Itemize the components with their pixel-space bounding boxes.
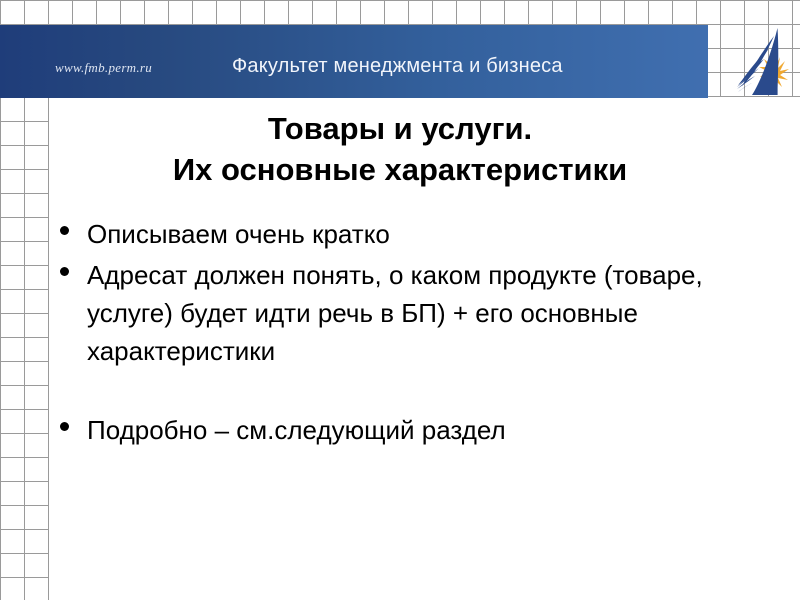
round-bullet-icon <box>60 226 69 235</box>
round-bullet-icon <box>60 267 69 276</box>
site-url-label: www.fmb.perm.ru <box>55 60 152 76</box>
round-bullet-icon <box>60 422 69 431</box>
bullet-text-details-next-section: Подробно – см.следующий раздел <box>87 411 740 449</box>
title-line-1: Товары и услуги. <box>40 108 760 149</box>
wing-starburst-logo-icon <box>733 26 791 98</box>
bullet-text-describe-briefly: Описываем очень кратко <box>87 215 740 253</box>
presentation-slide: www.fmb.perm.ru Факультет менеджмента и … <box>0 0 800 600</box>
wing-icon <box>737 28 778 95</box>
bullet-item-addressee-understand: Адресат должен понять, о каком продукте … <box>40 256 740 370</box>
bullet-list-spacer <box>40 373 740 411</box>
bullet-item-details-next-section: Подробно – см.следующий раздел <box>40 411 740 449</box>
bullet-list: Описываем очень кратко Адресат должен по… <box>40 215 740 452</box>
title-line-2: Их основные характеристики <box>40 149 760 190</box>
faculty-name-label: Факультет менеджмента и бизнеса <box>232 55 563 78</box>
slide-title: Товары и услуги. Их основные характерист… <box>40 108 760 190</box>
bullet-item-describe-briefly: Описываем очень кратко <box>40 215 740 253</box>
bullet-text-addressee-understand: Адресат должен понять, о каком продукте … <box>87 256 740 370</box>
